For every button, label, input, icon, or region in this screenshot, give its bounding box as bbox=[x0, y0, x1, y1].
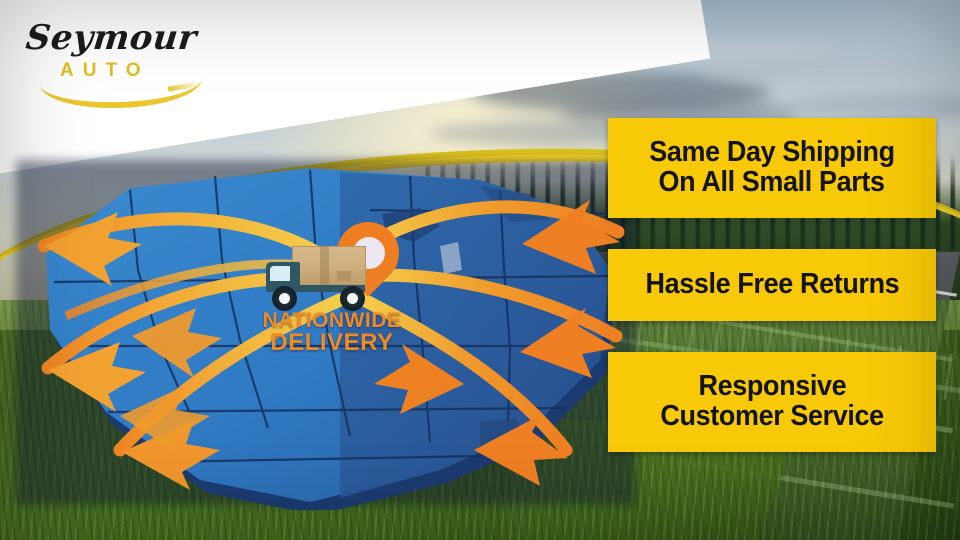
banner-line: Hassle Free Returns bbox=[645, 270, 899, 300]
cardboard-box-icon bbox=[292, 246, 366, 288]
banner-responsive-customer-service[interactable]: Responsive Customer Service bbox=[608, 352, 936, 452]
nationwide-delivery-caption: NATIONWIDE DELIVERY bbox=[242, 310, 422, 356]
caption-line-1: NATIONWIDE bbox=[242, 310, 422, 331]
logo[interactable]: Seymour AUTO bbox=[18, 14, 208, 100]
banner-line: Responsive bbox=[698, 372, 846, 402]
logo-subtitle: AUTO bbox=[60, 60, 149, 82]
banner-line: Customer Service bbox=[660, 402, 883, 432]
delivery-truck-graphic: NATIONWIDE DELIVERY bbox=[262, 222, 402, 342]
promo-banner: Seymour AUTO bbox=[0, 0, 960, 540]
banner-same-day-shipping[interactable]: Same Day Shipping On All Small Parts bbox=[608, 118, 936, 218]
banner-line: Same Day Shipping bbox=[649, 138, 894, 168]
truck-window bbox=[270, 266, 290, 281]
banner-line: On All Small Parts bbox=[659, 168, 885, 198]
box-tape bbox=[320, 246, 329, 286]
logo-wordmark: Seymour bbox=[24, 18, 199, 58]
truck-wheel-icon bbox=[340, 286, 365, 311]
caption-line-2: DELIVERY bbox=[242, 331, 422, 355]
banner-hassle-free-returns[interactable]: Hassle Free Returns bbox=[608, 249, 936, 321]
truck-wheel-icon bbox=[272, 286, 297, 311]
